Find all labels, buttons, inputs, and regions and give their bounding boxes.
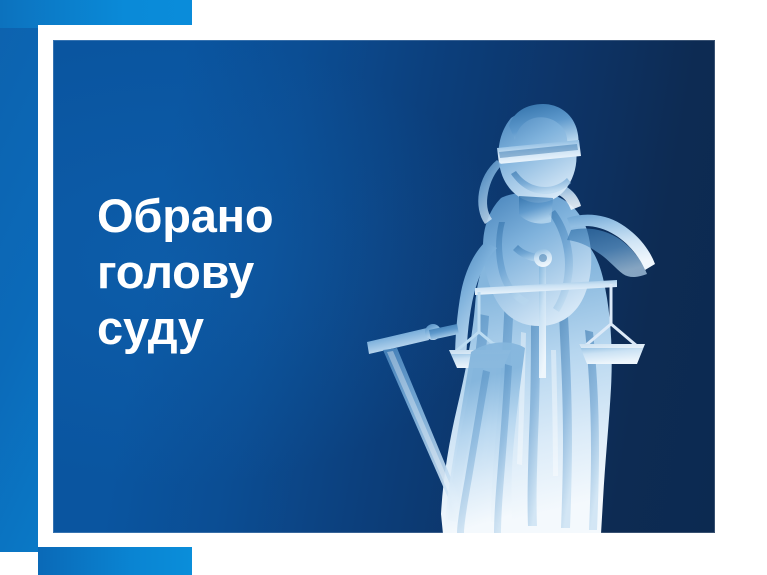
accent-bar-top <box>0 0 192 28</box>
statue-right-arm <box>567 215 655 270</box>
statue-shoulder <box>539 183 581 210</box>
statue-blindfold <box>497 140 581 164</box>
statue-drape-front-folds <box>457 364 512 533</box>
banner-root: Обрано голову суду <box>0 0 767 575</box>
accent-bar-bottom <box>38 547 192 575</box>
headline-line-1: Обрано <box>97 188 273 244</box>
headline-line-2: голову <box>97 244 273 300</box>
statue-hair <box>509 104 579 150</box>
statue-robe-folds <box>448 296 599 530</box>
statue-sword <box>367 324 465 518</box>
page-title: Обрано голову суду <box>97 188 273 356</box>
statue-right-arm-shadow <box>567 228 647 277</box>
statue-left-arm <box>455 242 497 362</box>
statue-jaw <box>511 171 571 194</box>
statue-blindfold-ribbon <box>478 160 502 224</box>
statue-head <box>499 112 577 203</box>
statue-neck <box>519 196 553 224</box>
statue-blindfold-shadow <box>499 144 578 158</box>
lady-justice-icon <box>353 82 713 533</box>
statue-drape-front <box>445 342 525 533</box>
content-panel: Обрано голову суду <box>53 40 715 533</box>
statue-torso <box>483 192 591 326</box>
statue-scales <box>449 249 645 378</box>
statue-robe <box>441 222 612 533</box>
headline-line-3: суду <box>97 300 273 356</box>
statue-robe-highlights <box>481 332 558 476</box>
statue-chest-detail <box>496 210 573 312</box>
